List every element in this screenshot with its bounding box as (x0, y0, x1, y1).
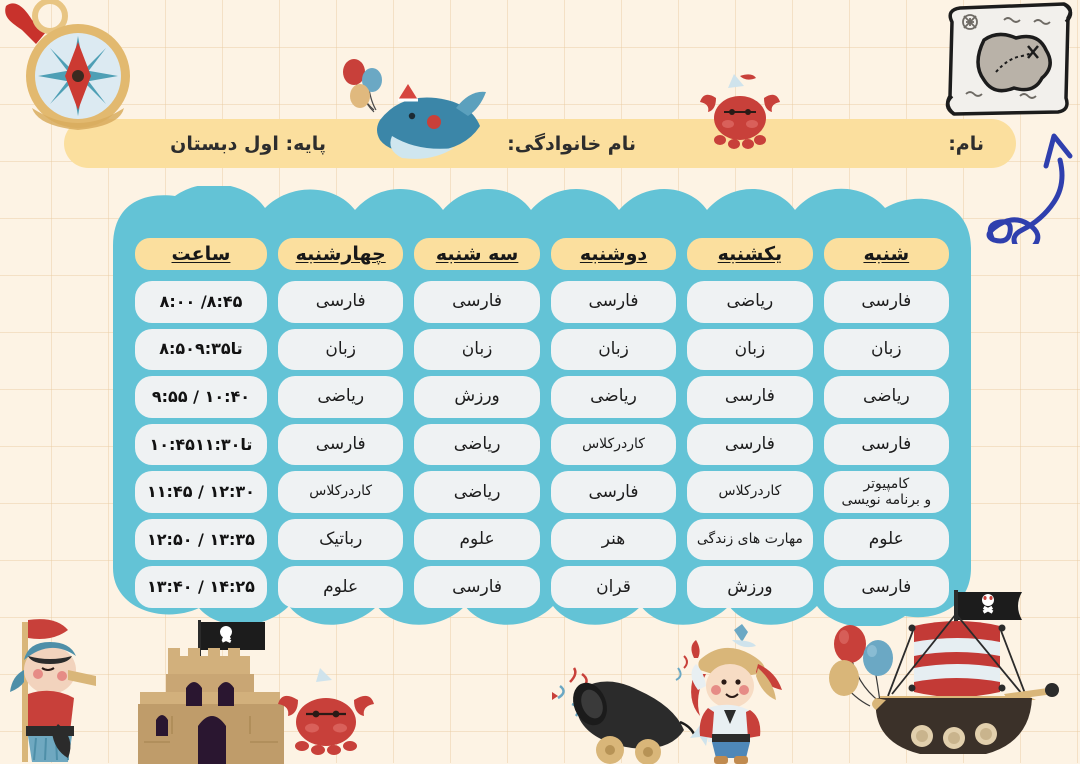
cell-tuesday-6[interactable]: علوم (414, 519, 539, 561)
cell-tuesday-4[interactable]: ریاضی (414, 424, 539, 466)
cell-monday-1[interactable]: فارسی (551, 281, 676, 323)
timetable-board: شنبه یکشنبه دوشنبه سه شنبه چهارشنبه ساعت… (113, 186, 971, 626)
table-row: کامپیوتر و برنامه نویسی کاردرکلاس فارسی … (135, 471, 949, 513)
cell-sunday-3[interactable]: فارسی (687, 376, 812, 418)
cell-sunday-4[interactable]: فارسی (687, 424, 812, 466)
cell-time-5: ۱۱:۴۵ / ۱۲:۳۰ (135, 471, 267, 513)
column-header-time: ساعت (135, 238, 267, 270)
cell-saturday-2[interactable]: زبان (824, 329, 949, 371)
cell-time-3: ۹:۵۵ / ۱۰:۴۰ (135, 376, 267, 418)
balloons-icon (824, 620, 916, 730)
student-info-bar: نام: نام خانوادگی: پایه: اول دبستان (64, 119, 1016, 168)
pirate-girl-icon (672, 624, 804, 764)
table-row: زبان زبان زبان زبان زبان ۸:۵۰تا۹:۳۵ (135, 329, 949, 371)
cell-tuesday-1[interactable]: فارسی (414, 281, 539, 323)
column-header-wednesday: چهارشنبه (278, 238, 403, 270)
crab-icon (272, 664, 380, 760)
cell-saturday-5[interactable]: کامپیوتر و برنامه نویسی (824, 471, 949, 513)
cell-monday-2[interactable]: زبان (551, 329, 676, 371)
cell-sunday-1[interactable]: ریاضی (687, 281, 812, 323)
cell-sunday-2[interactable]: زبان (687, 329, 812, 371)
table-row: ریاضی فارسی ریاضی ورزش ریاضی ۹:۵۵ / ۱۰:۴… (135, 376, 949, 418)
cell-wednesday-4[interactable]: فارسی (278, 424, 403, 466)
column-header-saturday: شنبه (824, 238, 949, 270)
column-header-sunday: یکشنبه (687, 238, 812, 270)
cell-saturday-7[interactable]: فارسی (824, 566, 949, 608)
cell-time-6: ۱۲:۵۰ / ۱۳:۳۵ (135, 519, 267, 561)
column-header-monday: دوشنبه (551, 238, 676, 270)
cell-tuesday-7[interactable]: فارسی (414, 566, 539, 608)
cell-sunday-6[interactable]: مهارت های زندگی (687, 519, 812, 561)
cell-saturday-6[interactable]: علوم (824, 519, 949, 561)
cell-tuesday-5[interactable]: ریاضی (414, 471, 539, 513)
treasure-map-icon (938, 0, 1080, 122)
table-row: فارسی ریاضی فارسی فارسی فارسی ۸:۰۰ /۸:۴۵ (135, 281, 949, 323)
cell-sunday-7[interactable]: ورزش (687, 566, 812, 608)
cell-time-4: ۱۰:۴۵تا۱۱:۳۰ (135, 424, 267, 466)
cell-wednesday-1[interactable]: فارسی (278, 281, 403, 323)
cell-wednesday-5[interactable]: کاردرکلاس (278, 471, 403, 513)
cell-monday-6[interactable]: هنر (551, 519, 676, 561)
cell-tuesday-3[interactable]: ورزش (414, 376, 539, 418)
grade-field-label[interactable]: پایه: اول دبستان (170, 133, 326, 155)
table-row: فارسی فارسی کاردرکلاس ریاضی فارسی ۱۰:۴۵ت… (135, 424, 949, 466)
cell-monday-5[interactable]: فارسی (551, 471, 676, 513)
cannon-icon (548, 652, 708, 764)
cell-time-7: ۱۳:۴۰ / ۱۴:۲۵ (135, 566, 267, 608)
pirate-boy-icon (0, 614, 114, 764)
sandcastle-icon (110, 616, 300, 764)
cell-wednesday-7[interactable]: علوم (278, 566, 403, 608)
cell-saturday-1[interactable]: فارسی (824, 281, 949, 323)
table-row: فارسی ورزش قران فارسی علوم ۱۳:۴۰ / ۱۴:۲۵ (135, 566, 949, 608)
name-field-label[interactable]: نام: (948, 133, 984, 155)
cell-tuesday-2[interactable]: زبان (414, 329, 539, 371)
cell-wednesday-2[interactable]: زبان (278, 329, 403, 371)
cell-monday-7[interactable]: قران (551, 566, 676, 608)
cell-time-2: ۸:۵۰تا۹:۳۵ (135, 329, 267, 371)
column-header-tuesday: سه شنبه (414, 238, 539, 270)
cell-monday-4[interactable]: کاردرکلاس (551, 424, 676, 466)
cell-time-1: ۸:۰۰ /۸:۴۵ (135, 281, 267, 323)
table-row: علوم مهارت های زندگی هنر علوم رباتیک ۱۲:… (135, 519, 949, 561)
cell-wednesday-6[interactable]: رباتیک (278, 519, 403, 561)
family-field-label[interactable]: نام خانوادگی: (507, 133, 636, 155)
table-header-row: شنبه یکشنبه دوشنبه سه شنبه چهارشنبه ساعت (135, 238, 949, 270)
cell-wednesday-3[interactable]: ریاضی (278, 376, 403, 418)
cell-sunday-5[interactable]: کاردرکلاس (687, 471, 812, 513)
cell-monday-3[interactable]: ریاضی (551, 376, 676, 418)
cell-saturday-4[interactable]: فارسی (824, 424, 949, 466)
cell-saturday-3[interactable]: ریاضی (824, 376, 949, 418)
